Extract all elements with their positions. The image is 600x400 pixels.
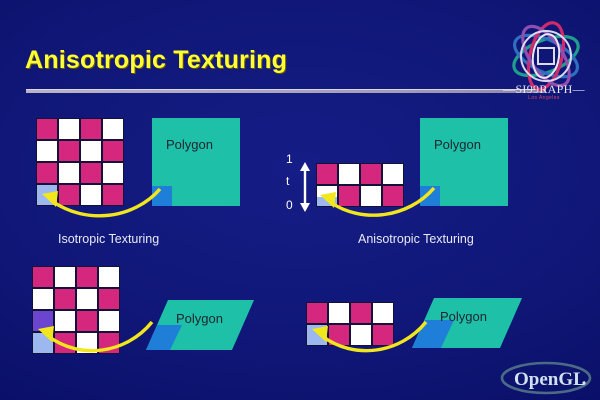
t-axis-label: t — [286, 174, 289, 188]
texture-cell — [338, 163, 360, 185]
polygon-label: Polygon — [440, 309, 487, 324]
texture-cell — [102, 118, 124, 140]
texture-cell — [54, 288, 76, 310]
texture-cell — [382, 163, 404, 185]
mapping-arrow — [312, 186, 437, 224]
page-title: Anisotropic Texturing — [25, 46, 287, 75]
texture-cell — [58, 118, 80, 140]
mapping-arrow — [30, 320, 155, 358]
texture-cell — [58, 140, 80, 162]
caption-anisotropic: Anisotropic Texturing — [358, 232, 474, 246]
siggraph-wordmark-text: SI99RAPH — [515, 82, 572, 96]
texture-cell — [76, 288, 98, 310]
polygon-label: Polygon — [434, 137, 481, 152]
t-axis-min-label: 0 — [286, 198, 293, 212]
texture-cell — [58, 162, 80, 184]
mapping-arrow — [34, 185, 164, 225]
texture-cell — [80, 162, 102, 184]
texture-cell — [316, 163, 338, 185]
texture-cell — [32, 266, 54, 288]
texture-cell — [102, 140, 124, 162]
slide-canvas: Anisotropic Texturing —SI99RAPH— Los Ang… — [0, 0, 600, 400]
texture-cell — [98, 288, 120, 310]
texture-cell — [36, 118, 58, 140]
mapping-arrow — [304, 320, 429, 358]
t-axis-max-label: 1 — [286, 152, 293, 166]
siggraph-dash-right: — — [573, 82, 585, 96]
t-axis-double-arrow — [298, 162, 312, 212]
siggraph-sublabel: Los Angeles — [498, 95, 590, 101]
polygon-label: Polygon — [166, 137, 213, 152]
siggraph-dash-left: — — [503, 82, 515, 96]
texture-cell — [98, 266, 120, 288]
texture-cell — [32, 288, 54, 310]
texture-cell — [36, 140, 58, 162]
texture-cell — [80, 140, 102, 162]
texture-cell — [54, 266, 76, 288]
texture-cell — [102, 162, 124, 184]
polygon-parallelogram — [146, 300, 256, 352]
texture-cell — [360, 163, 382, 185]
texture-cell — [80, 118, 102, 140]
title-divider — [26, 89, 546, 93]
caption-isotropic: Isotropic Texturing — [58, 232, 159, 246]
opengl-logo: OpenGL — [496, 358, 596, 398]
texture-cell — [36, 162, 58, 184]
texture-cell — [76, 266, 98, 288]
opengl-wordmark-text: OpenGL — [514, 369, 586, 390]
polygon-label: Polygon — [176, 311, 223, 326]
